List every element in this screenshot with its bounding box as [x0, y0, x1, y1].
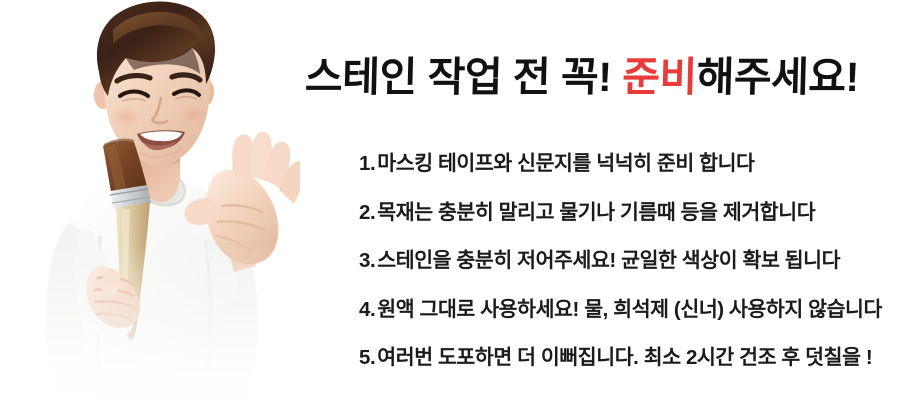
step-text: 여러번 도포하면 더 이뻐집니다. 최소 2시간 건조 후 덧칠을 !: [377, 346, 872, 369]
step-number: 4.: [359, 298, 375, 321]
step-text: 스테인을 충분히 저어주세요! 균일한 색상이 확보 됩니다: [377, 249, 840, 272]
stain-prep-banner: 스테인 작업 전 꼭! 준비해주세요! 1.마스킹 테이프와 신문지를 넉넉히 …: [0, 0, 908, 415]
step-number: 5.: [359, 346, 375, 369]
step-text: 마스킹 테이프와 신문지를 넉넉히 준비 합니다: [377, 152, 754, 175]
headline-part-before: 스테인 작업 전 꼭!: [304, 54, 622, 100]
prep-steps-list: 1.마스킹 테이프와 신문지를 넉넉히 준비 합니다 2.목재는 충분히 말리고…: [359, 152, 882, 395]
list-item: 3.스테인을 충분히 저어주세요! 균일한 색상이 확보 됩니다: [359, 249, 882, 298]
list-item: 4.원액 그대로 사용하세요! 물, 희석제 (신너) 사용하지 않습니다: [359, 298, 882, 347]
headline-part-after: 해주세요!: [696, 54, 859, 100]
model-photo: [0, 0, 300, 415]
model-photo-illustration: [0, 0, 300, 415]
list-item: 5.여러번 도포하면 더 이뻐집니다. 최소 2시간 건조 후 덧칠을 !: [359, 346, 882, 395]
step-number: 3.: [359, 249, 375, 272]
step-text: 원액 그대로 사용하세요! 물, 희석제 (신너) 사용하지 않습니다: [377, 298, 882, 321]
list-item: 2.목재는 충분히 말리고 물기나 기름때 등을 제거합니다: [359, 201, 882, 250]
step-number: 1.: [359, 152, 375, 175]
step-number: 2.: [359, 201, 375, 224]
list-item: 1.마스킹 테이프와 신문지를 넉넉히 준비 합니다: [359, 152, 882, 201]
page-title: 스테인 작업 전 꼭! 준비해주세요!: [304, 57, 859, 98]
headline-accent-word: 준비: [622, 54, 698, 100]
banner-content: 스테인 작업 전 꼭! 준비해주세요! 1.마스킹 테이프와 신문지를 넉넉히 …: [300, 0, 908, 415]
step-text: 목재는 충분히 말리고 물기나 기름때 등을 제거합니다: [377, 201, 815, 224]
